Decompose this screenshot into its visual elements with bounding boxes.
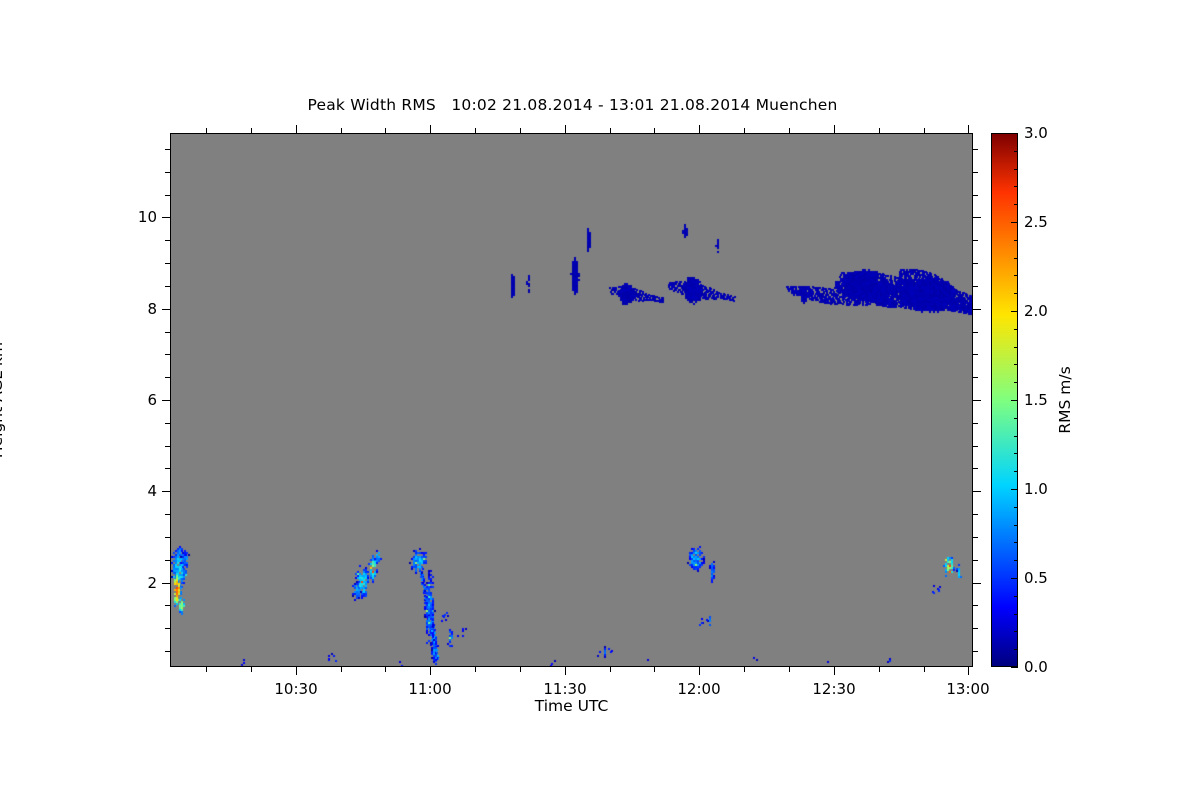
colorbar-tick-minor — [1014, 596, 1018, 597]
y-tick-minor — [165, 537, 170, 538]
y-tick-label: 2 — [0, 574, 157, 592]
chart-page: Peak Width RMS 10:02 21.08.2014 - 13:01 … — [0, 0, 1200, 800]
colorbar-tick-minor — [1014, 542, 1018, 543]
x-tick-minor-top — [789, 128, 790, 133]
colorbar-tick-major — [1011, 578, 1018, 579]
x-tick-minor-top — [744, 128, 745, 133]
x-tick-minor-top — [251, 128, 252, 133]
colorbar-title: RMS m/s — [1056, 366, 1074, 433]
colorbar-tick-minor — [1014, 382, 1018, 383]
y-tick-minor-right — [973, 149, 978, 150]
colorbar-tick-minor — [1014, 507, 1018, 508]
y-tick-minor-right — [973, 446, 978, 447]
x-tick-minor-top — [520, 128, 521, 133]
x-tick-label: 10:30 — [274, 680, 317, 698]
colorbar-tick-major — [1011, 667, 1018, 668]
y-tick-minor — [165, 240, 170, 241]
x-tick-minor-top — [924, 128, 925, 133]
x-tick-label: 13:00 — [946, 680, 989, 698]
x-tick-minor — [789, 667, 790, 672]
x-tick-major — [296, 667, 297, 675]
heatmap-canvas — [171, 134, 973, 667]
y-tick-minor — [165, 263, 170, 264]
x-tick-minor — [924, 667, 925, 672]
colorbar-tick-label: 2.5 — [1024, 213, 1048, 231]
colorbar-tick-minor — [1014, 204, 1018, 205]
colorbar-tick-major — [1011, 222, 1018, 223]
x-tick-major-top — [699, 125, 700, 133]
colorbar-tick-major — [1011, 489, 1018, 490]
y-tick-minor-right — [973, 468, 978, 469]
colorbar-tick-minor — [1014, 471, 1018, 472]
x-tick-minor-top — [879, 128, 880, 133]
chart-title: Peak Width RMS 10:02 21.08.2014 - 13:01 … — [0, 96, 1145, 114]
y-tick-minor-right — [973, 537, 978, 538]
x-tick-minor — [475, 667, 476, 672]
colorbar-tick-minor — [1014, 169, 1018, 170]
x-tick-minor — [341, 667, 342, 672]
x-tick-minor — [520, 667, 521, 672]
colorbar-tick-major — [1011, 133, 1018, 134]
colorbar-tick-minor — [1014, 614, 1018, 615]
y-tick-minor — [165, 628, 170, 629]
x-tick-major — [968, 667, 969, 675]
y-tick-minor — [165, 172, 170, 173]
y-tick-minor-right — [973, 240, 978, 241]
y-tick-major-right — [973, 309, 981, 310]
colorbar-tick-label: 0.5 — [1024, 569, 1048, 587]
x-tick-label: 12:00 — [677, 680, 720, 698]
colorbar-tick-minor — [1014, 364, 1018, 365]
colorbar-tick-minor — [1014, 453, 1018, 454]
y-tick-minor-right — [973, 377, 978, 378]
colorbar-tick-minor — [1014, 151, 1018, 152]
y-tick-minor — [165, 377, 170, 378]
y-tick-minor-right — [973, 332, 978, 333]
colorbar-tick-minor — [1014, 258, 1018, 259]
y-tick-major-right — [973, 491, 981, 492]
colorbar-tick-minor — [1014, 347, 1018, 348]
y-tick-major-right — [973, 583, 981, 584]
y-tick-major — [162, 400, 170, 401]
colorbar-tick-minor — [1014, 649, 1018, 650]
x-tick-minor-top — [341, 128, 342, 133]
colorbar-tick-minor — [1014, 329, 1018, 330]
colorbar-tick-label: 2.0 — [1024, 302, 1048, 320]
x-tick-major — [699, 667, 700, 675]
x-tick-minor — [610, 667, 611, 672]
y-tick-minor — [165, 354, 170, 355]
y-tick-minor — [165, 651, 170, 652]
x-tick-minor-top — [610, 128, 611, 133]
x-tick-minor — [744, 667, 745, 672]
y-tick-major-right — [973, 400, 981, 401]
y-tick-minor-right — [973, 514, 978, 515]
colorbar-tick-label: 1.0 — [1024, 480, 1048, 498]
colorbar-tick-minor — [1014, 525, 1018, 526]
x-tick-major-top — [430, 125, 431, 133]
y-tick-minor — [165, 286, 170, 287]
y-tick-major-right — [973, 217, 981, 218]
colorbar-tick-minor — [1014, 418, 1018, 419]
colorbar-tick-minor — [1014, 275, 1018, 276]
x-tick-minor — [251, 667, 252, 672]
colorbar-tick-major — [1011, 400, 1018, 401]
y-tick-minor-right — [973, 286, 978, 287]
colorbar-tick-minor — [1014, 240, 1018, 241]
y-tick-minor-right — [973, 263, 978, 264]
y-tick-minor — [165, 514, 170, 515]
y-tick-label: 10 — [0, 208, 157, 226]
y-tick-minor-right — [973, 605, 978, 606]
y-tick-minor-right — [973, 560, 978, 561]
x-tick-minor-top — [475, 128, 476, 133]
colorbar-tick-label: 3.0 — [1024, 124, 1048, 142]
x-tick-label: 11:00 — [408, 680, 451, 698]
colorbar-tick-minor — [1014, 436, 1018, 437]
y-tick-label: 6 — [0, 391, 157, 409]
x-tick-minor — [879, 667, 880, 672]
y-tick-minor-right — [973, 172, 978, 173]
y-tick-minor — [165, 149, 170, 150]
y-tick-major — [162, 491, 170, 492]
y-tick-major — [162, 309, 170, 310]
y-tick-minor — [165, 468, 170, 469]
x-tick-major — [565, 667, 566, 675]
x-tick-minor-top — [385, 128, 386, 133]
y-tick-minor — [165, 605, 170, 606]
y-tick-minor — [165, 332, 170, 333]
y-tick-minor-right — [973, 195, 978, 196]
y-tick-minor-right — [973, 354, 978, 355]
colorbar-tick-minor — [1014, 631, 1018, 632]
y-tick-minor — [165, 446, 170, 447]
x-axis-title: Time UTC — [170, 697, 973, 715]
x-tick-minor — [385, 667, 386, 672]
colorbar-tick-label: 1.5 — [1024, 391, 1048, 409]
y-tick-minor — [165, 423, 170, 424]
x-tick-minor-top — [206, 128, 207, 133]
x-tick-major-top — [968, 125, 969, 133]
x-tick-major-top — [296, 125, 297, 133]
y-tick-major — [162, 217, 170, 218]
x-tick-minor — [654, 667, 655, 672]
y-tick-major — [162, 583, 170, 584]
x-tick-major — [834, 667, 835, 675]
x-tick-major — [430, 667, 431, 675]
y-tick-minor — [165, 560, 170, 561]
x-tick-label: 11:30 — [543, 680, 586, 698]
plot-area — [170, 133, 973, 667]
y-tick-label: 8 — [0, 300, 157, 318]
colorbar-tick-minor — [1014, 560, 1018, 561]
y-tick-label: 4 — [0, 482, 157, 500]
y-tick-minor-right — [973, 651, 978, 652]
x-tick-minor-top — [654, 128, 655, 133]
y-tick-minor-right — [973, 423, 978, 424]
x-tick-major-top — [834, 125, 835, 133]
colorbar-tick-label: 0.0 — [1024, 658, 1048, 676]
x-tick-major-top — [565, 125, 566, 133]
x-tick-label: 12:30 — [812, 680, 855, 698]
x-tick-minor — [206, 667, 207, 672]
colorbar-tick-major — [1011, 311, 1018, 312]
colorbar-tick-minor — [1014, 293, 1018, 294]
y-axis-title: Height AGL km — [0, 342, 6, 458]
y-tick-minor-right — [973, 628, 978, 629]
y-tick-minor — [165, 195, 170, 196]
colorbar-tick-minor — [1014, 186, 1018, 187]
